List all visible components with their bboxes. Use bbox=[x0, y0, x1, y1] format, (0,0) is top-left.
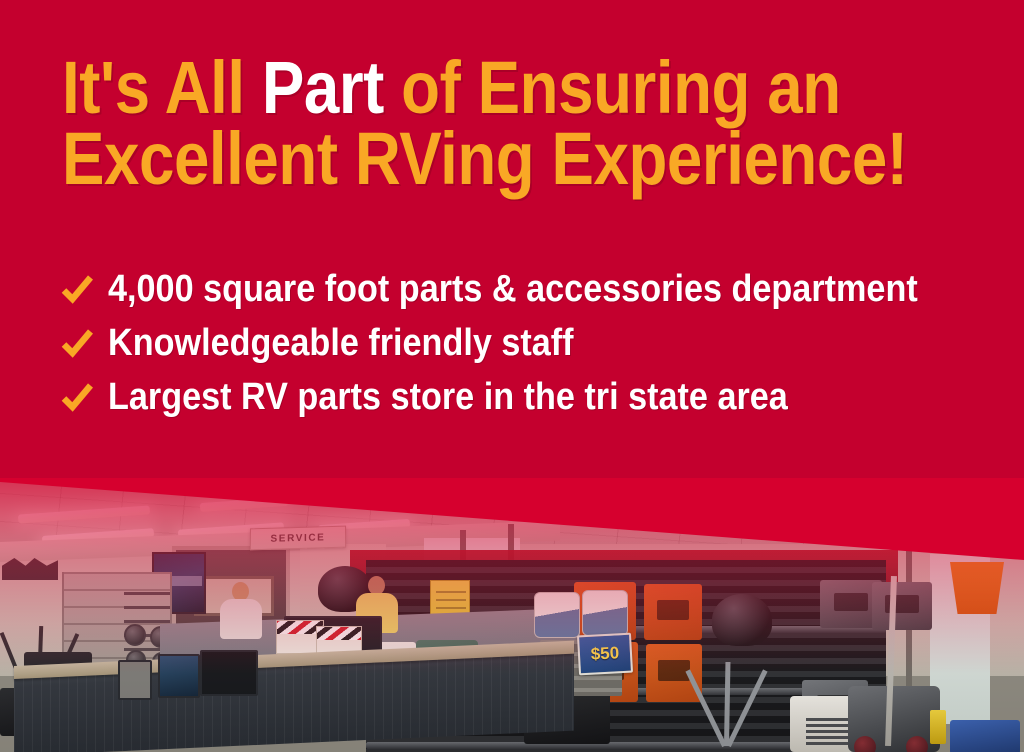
headline-block: It's All Part of Ensuring an Excellent R… bbox=[62, 52, 962, 194]
blue-bin bbox=[950, 720, 1020, 752]
price-sign: $50 bbox=[577, 633, 633, 676]
list-item-label: Knowledgeable friendly staff bbox=[108, 324, 574, 362]
price-sign-label: $50 bbox=[590, 643, 619, 664]
domed-product bbox=[712, 594, 772, 646]
check-icon bbox=[60, 326, 94, 360]
yellow-accessory bbox=[930, 710, 946, 744]
counter-monitor bbox=[200, 650, 258, 696]
torso bbox=[220, 599, 262, 639]
headline-line-1: It's All Part of Ensuring an bbox=[62, 52, 836, 123]
cooler-product bbox=[582, 590, 628, 636]
list-item-label: Largest RV parts store in the tri state … bbox=[108, 378, 788, 416]
list-item: Largest RV parts store in the tri state … bbox=[60, 370, 1010, 424]
check-icon bbox=[60, 272, 94, 306]
counter-monitor bbox=[118, 660, 152, 700]
promo-banner: SERVICE bbox=[0, 0, 1024, 752]
wheel bbox=[906, 736, 928, 752]
list-item-label: 4,000 square foot parts & accessories de… bbox=[108, 270, 918, 308]
check-icon bbox=[60, 380, 94, 414]
list-item: Knowledgeable friendly staff bbox=[60, 316, 1010, 370]
orange-awning bbox=[950, 562, 1004, 614]
list-item: 4,000 square foot parts & accessories de… bbox=[60, 262, 1010, 316]
store-interior-photo: SERVICE bbox=[0, 474, 1024, 752]
feature-bullet-list: 4,000 square foot parts & accessories de… bbox=[60, 262, 1010, 424]
tripod-stand bbox=[684, 650, 770, 746]
product-disc bbox=[124, 624, 146, 646]
product-box bbox=[644, 584, 702, 640]
product-box bbox=[872, 582, 932, 630]
wheel bbox=[854, 736, 876, 752]
service-sign: SERVICE bbox=[250, 526, 346, 551]
pressure-washer bbox=[848, 686, 940, 752]
store-employee bbox=[232, 582, 262, 639]
red-header-panel: It's All Part of Ensuring an Excellent R… bbox=[0, 0, 1024, 478]
headline-line-2: Excellent RVing Experience! bbox=[62, 123, 836, 194]
service-sign-label: SERVICE bbox=[271, 532, 326, 545]
photo-scene: SERVICE bbox=[0, 474, 1024, 752]
counter-monitor bbox=[158, 654, 200, 698]
cooler-product bbox=[534, 592, 580, 638]
